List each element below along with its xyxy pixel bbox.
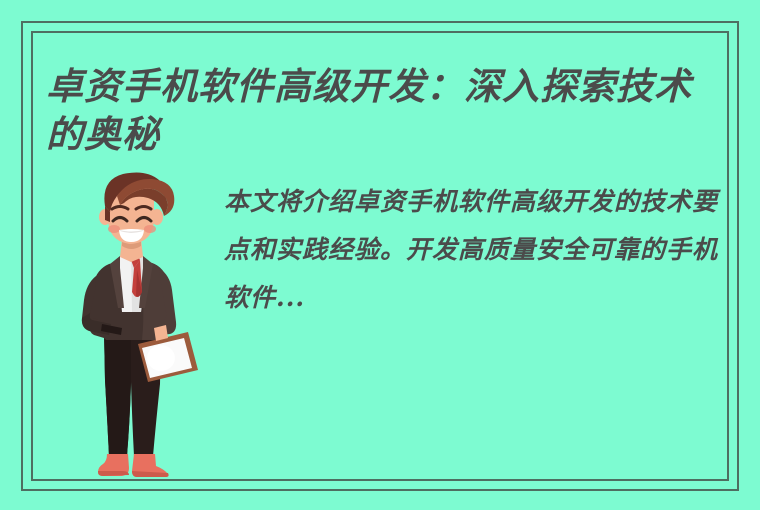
head-shape (99, 172, 174, 244)
businessman-illustration (60, 172, 210, 484)
page-title: 卓资手机软件高级开发：深入探索技术的奥秘 (46, 62, 728, 158)
shoes-shape (98, 454, 169, 477)
article-card: 卓资手机软件高级开发：深入探索技术的奥秘 本文将介绍卓资手机软件高级开发的技术要… (0, 0, 760, 510)
article-summary: 本文将介绍卓资手机软件高级开发的技术要点和实践经验。开发高质量安全可靠的手机软件… (224, 178, 720, 322)
